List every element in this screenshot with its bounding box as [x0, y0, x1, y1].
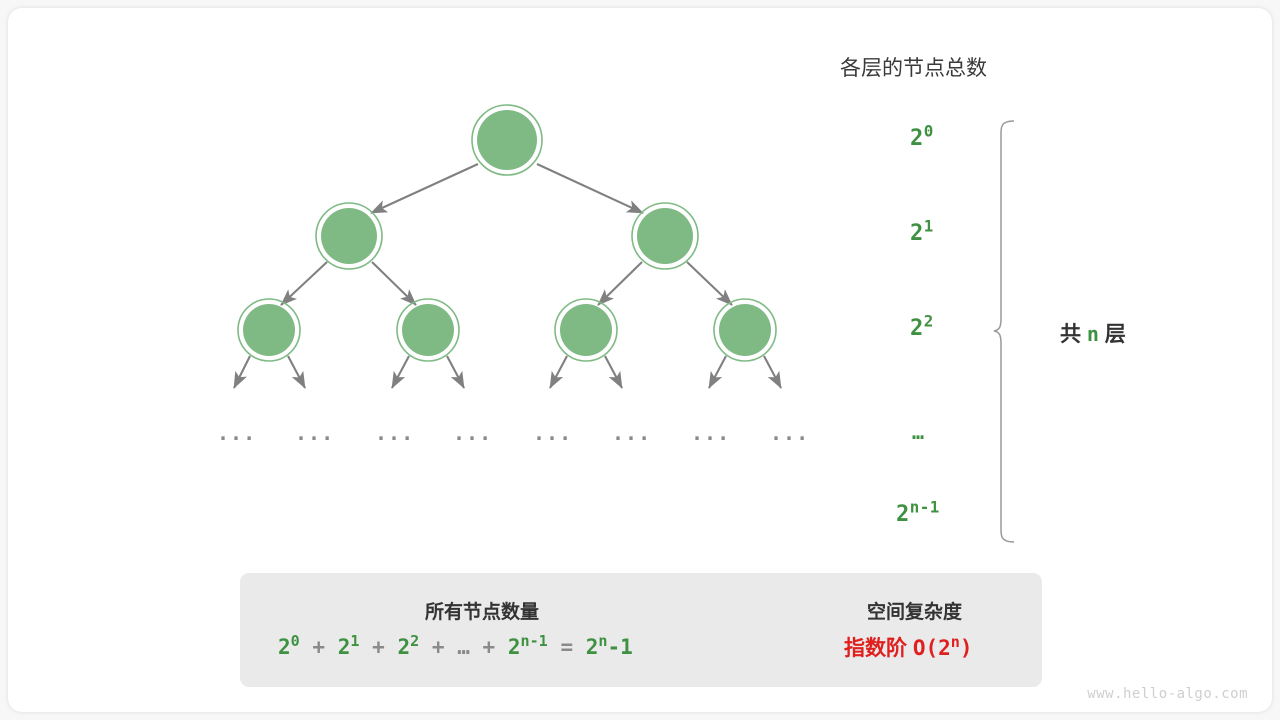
level-label-4-base: 2 [896, 502, 910, 527]
level-label-1-exp: 1 [924, 217, 934, 236]
level-label-2: 22 [910, 316, 934, 341]
level-label-2-exp: 2 [924, 312, 934, 331]
level-label-0: 20 [910, 126, 934, 151]
total-nodes-formula: 20 + 21 + 22 + … + 2n-1 = 2n-1 [278, 635, 633, 659]
total-levels-value: n [1087, 322, 1099, 346]
level-label-4-exp: n-1 [910, 498, 940, 517]
tree-ellipsis-7: ... [770, 421, 809, 445]
total-levels-prefix: 共 [1060, 323, 1081, 346]
formula-term-2: 22 [397, 635, 419, 659]
level-label-0-base: 2 [910, 126, 924, 151]
complexity-name: 指数阶 [844, 637, 907, 660]
tree-ellipsis-3: ... [453, 421, 492, 445]
summary-box: 所有节点数量 20 + 21 + 22 + … + 2n-1 = 2n-1 空间… [240, 573, 1042, 687]
tree-ellipsis-0: ... [217, 421, 256, 445]
formula-plus-1: + [372, 635, 385, 659]
tree-ellipsis-6: ... [691, 421, 730, 445]
formula-ellipsis: … [457, 635, 470, 659]
total-levels-caption: 共 n 层 [1060, 318, 1126, 348]
watermark: www.hello-algo.com [1087, 686, 1248, 702]
tree-ellipsis-5: ... [612, 421, 651, 445]
formula-plus-3: + [483, 635, 496, 659]
complexity-value: 指数阶 O(2n) [844, 632, 973, 662]
complexity-heading: 空间复杂度 [867, 597, 962, 624]
formula-result: 2n-1 [586, 635, 633, 659]
tree-ellipsis-2: ... [375, 421, 414, 445]
formula-plus-2: + [432, 635, 445, 659]
formula-term-0: 20 [278, 635, 300, 659]
levels-panel-title: 各层的节点总数 [840, 52, 987, 82]
complexity-notation: O(2n) [913, 636, 973, 660]
total-levels-suffix: 层 [1105, 323, 1126, 346]
total-nodes-heading: 所有节点数量 [425, 597, 539, 624]
level-label-2-base: 2 [910, 316, 924, 341]
level-label-0-exp: 0 [924, 122, 934, 141]
level-label-4: 2n-1 [896, 502, 940, 527]
tree-ellipsis-1: ... [295, 421, 334, 445]
level-label-ellipsis: … [912, 420, 925, 444]
level-label-1-base: 2 [910, 221, 924, 246]
formula-term-1: 21 [338, 635, 360, 659]
diagram-canvas: ... ... ... ... ... ... ... ... 各层的节点总数 … [0, 0, 1280, 720]
tree-ellipsis-4: ... [533, 421, 572, 445]
level-label-1: 21 [910, 221, 934, 246]
formula-plus-0: + [312, 635, 325, 659]
formula-term-last: 2n-1 [508, 635, 548, 659]
formula-equals: = [560, 635, 573, 659]
